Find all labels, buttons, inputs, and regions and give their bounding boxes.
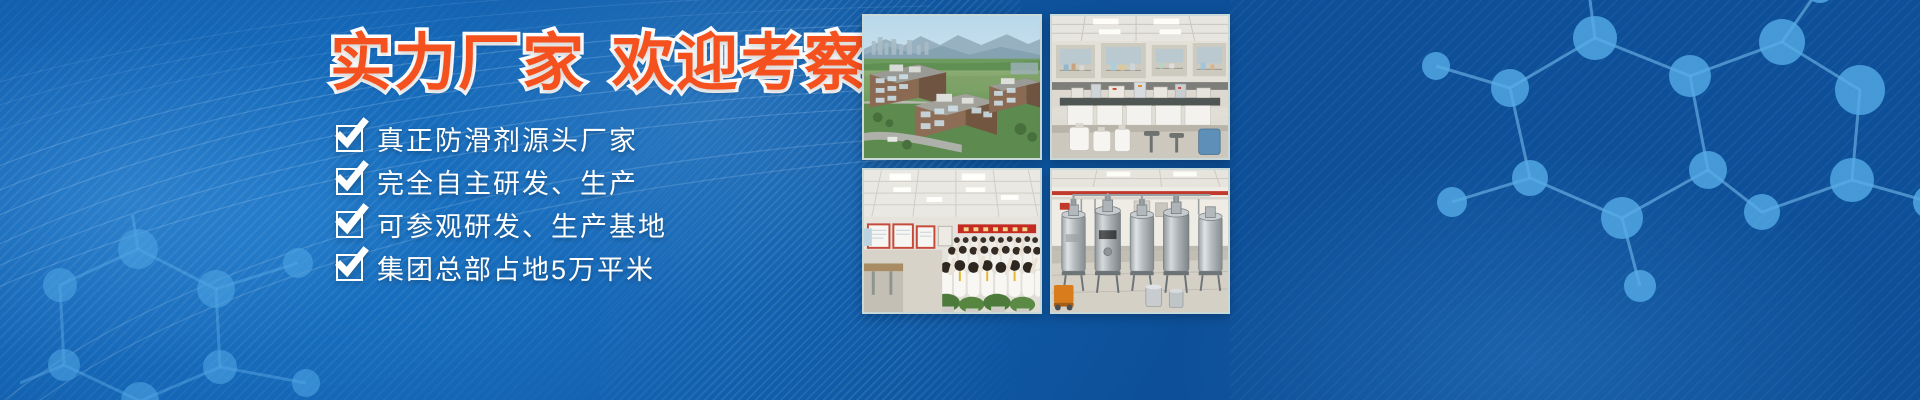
headline-part-2: 欢迎考察 (612, 29, 868, 98)
list-item: 完全自主研发、生产 (336, 160, 667, 202)
feature-list: 真正防滑剂源头厂家 完全自主研发、生产 可参观研发、生产基地 集团总部占地5万平… (336, 117, 667, 289)
laboratory-photo (1050, 14, 1230, 160)
promo-banner: 实力厂家欢迎考察 真正防滑剂源头厂家 完全自主研发、生产 可参观研发、生产基地 (0, 0, 1920, 400)
molecule-icon (1390, 0, 1920, 310)
list-item-label: 真正防滑剂源头厂家 (377, 119, 638, 158)
list-item: 集团总部占地5万平米 (336, 246, 667, 288)
photo-grid (862, 14, 1230, 314)
checkbox-check-icon (336, 254, 363, 281)
aerial-campus-photo (862, 14, 1042, 160)
checkbox-check-icon (336, 168, 363, 195)
headline-part-1: 实力厂家 (330, 29, 586, 98)
page-title: 实力厂家欢迎考察 (330, 33, 868, 95)
list-item: 真正防滑剂源头厂家 (336, 117, 667, 159)
checkbox-check-icon (336, 125, 363, 152)
production-equipment-photo (1050, 168, 1230, 314)
checkbox-check-icon (336, 211, 363, 238)
list-item-label: 完全自主研发、生产 (377, 162, 638, 201)
list-item-label: 集团总部占地5万平米 (377, 248, 655, 287)
staff-assembly-photo (862, 168, 1042, 314)
list-item: 可参观研发、生产基地 (336, 203, 667, 245)
molecule-icon (20, 215, 350, 400)
list-item-label: 可参观研发、生产基地 (377, 205, 667, 244)
